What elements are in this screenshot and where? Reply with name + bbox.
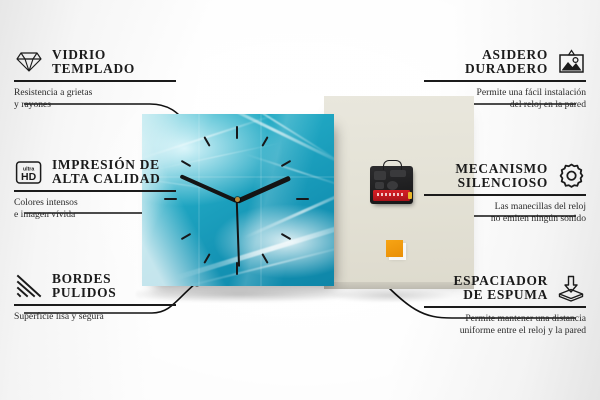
- feature-title-line1: VIDRIO: [52, 48, 106, 62]
- gear-icon: [556, 162, 586, 190]
- feature-title-line1: MECANISMO: [455, 162, 548, 176]
- feature-title-line2: TEMPLADO: [52, 62, 135, 76]
- polished-edges-icon: [14, 272, 44, 300]
- feature-rule: [14, 80, 176, 81]
- feature-asidero-duradero: ASIDERO DURADERO Permite una fácil insta…: [350, 48, 586, 112]
- feature-rule: [14, 304, 176, 305]
- feature-rule: [14, 190, 176, 191]
- feature-description: Las manecillas del reloj no emiten ningú…: [350, 201, 586, 226]
- feature-mecanismo-silencioso: MECANISMO SILENCIOSO Las manecillas del …: [350, 162, 586, 226]
- ultra-hd-icon: ultra HD: [14, 158, 44, 186]
- foam-spacer: [386, 240, 403, 257]
- feature-rule: [424, 194, 586, 195]
- feature-title-line2: PULIDOS: [52, 286, 116, 300]
- feature-bordes-pulidos: BORDES PULIDOS Superficie lisa y segura: [14, 272, 250, 323]
- feature-description: Resistencia a grietas y rayones: [14, 87, 250, 112]
- picture-hanger-icon: [556, 48, 586, 76]
- feature-description: Superficie lisa y segura: [14, 311, 250, 324]
- feature-description: Permite mantener una distancia uniforme …: [350, 313, 586, 338]
- diamond-icon: [14, 48, 44, 76]
- feature-title-line2: SILENCIOSO: [458, 176, 548, 190]
- feature-espaciador-de-espuma: ESPACIADOR DE ESPUMA Permite mantener un…: [350, 274, 586, 338]
- feature-vidrio-templado: VIDRIO TEMPLADO Resistencia a grietas y …: [14, 48, 250, 112]
- clock-tick-12: [236, 126, 238, 139]
- feature-description: Colores intensos e imagen vívida: [14, 197, 250, 222]
- feature-title-line2: ALTA CALIDAD: [52, 172, 160, 186]
- feature-description: Permite una fácil instalación del reloj …: [350, 87, 586, 112]
- feature-title-line2: DURADERO: [465, 62, 548, 76]
- feature-title-line1: ESPACIADOR: [453, 274, 548, 288]
- product-infographic: VIDRIO TEMPLADO Resistencia a grietas y …: [0, 0, 600, 400]
- foam-spacer-arrow-icon: [556, 274, 586, 302]
- feature-rule: [424, 306, 586, 307]
- clock-tick-3: [296, 198, 309, 200]
- feature-title-line1: ASIDERO: [482, 48, 548, 62]
- svg-text:HD: HD: [21, 171, 37, 183]
- feature-title-line2: DE ESPUMA: [463, 288, 548, 302]
- feature-rule: [424, 80, 586, 81]
- feature-title-line1: BORDES: [52, 272, 111, 286]
- feature-title-line1: IMPRESIÓN DE: [52, 158, 160, 172]
- feature-impresion-alta-calidad: ultra HD IMPRESIÓN DE ALTA CALIDAD Color…: [14, 158, 250, 222]
